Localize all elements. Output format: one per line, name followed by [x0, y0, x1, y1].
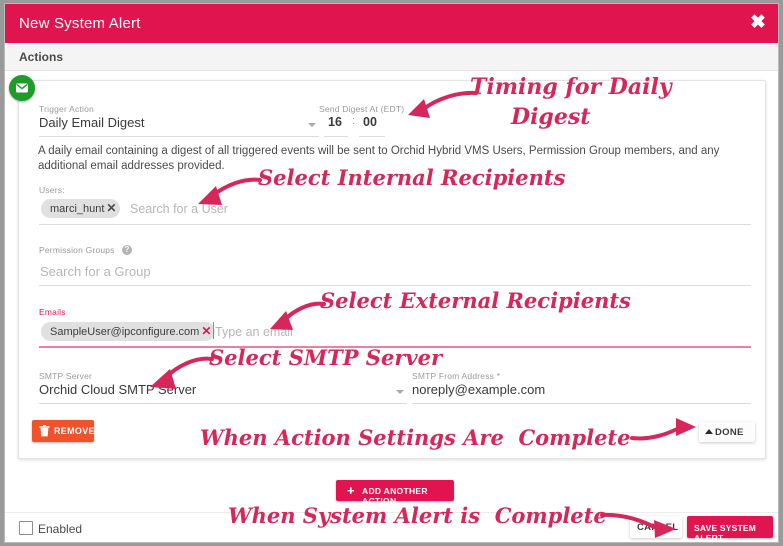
new-system-alert-dialog: New System Alert ✖ Actions Trigger Actio… [4, 3, 779, 543]
action-card: Trigger Action Daily Email Digest Send D… [18, 80, 766, 459]
smtp-server-underline [39, 403, 407, 404]
email-digest-icon [9, 75, 35, 101]
dialog-title-bar: New System Alert ✖ [5, 4, 779, 43]
send-digest-separator: : [352, 115, 355, 127]
permission-groups-label: Permission Groups [39, 245, 115, 255]
actions-section-label: Actions [19, 50, 63, 64]
add-another-action-label: ADD ANOTHER ACTION [362, 486, 454, 506]
done-button[interactable]: DONE [699, 422, 755, 442]
remove-button[interactable]: REMOVE [32, 420, 94, 442]
smtp-server-label: SMTP Server [39, 371, 92, 381]
cancel-button[interactable]: CANCEL [630, 516, 682, 538]
email-chip[interactable]: SampleUser@ipconfigure.com✕ [41, 322, 215, 341]
dialog-title: New System Alert [19, 15, 141, 32]
close-icon[interactable]: ✕ [201, 324, 211, 338]
help-icon[interactable]: ? [122, 245, 132, 255]
plus-icon: + [347, 485, 355, 496]
users-label: Users: [39, 185, 65, 195]
remove-button-label: REMOVE [54, 426, 95, 436]
chevron-up-icon [705, 429, 713, 434]
done-button-label: DONE [715, 427, 744, 438]
minute-underline [359, 136, 385, 137]
trigger-action-underline [39, 136, 319, 137]
emails-input-placeholder[interactable]: Type an email [215, 325, 293, 339]
permission-groups-underline [39, 285, 751, 286]
trigger-action-value[interactable]: Daily Email Digest [39, 115, 144, 130]
text-cursor [213, 322, 214, 339]
close-icon[interactable]: ✖ [747, 12, 769, 34]
smtp-from-address-value[interactable]: noreply@example.com [412, 382, 545, 397]
save-system-alert-button[interactable]: SAVE SYSTEM ALERT [687, 516, 773, 538]
send-digest-label: Send Digest At (EDT) [319, 104, 404, 114]
actions-section-header: Actions [5, 43, 779, 71]
trash-icon [39, 425, 50, 437]
emails-underline [39, 346, 751, 348]
user-chip-label: marci_hunt [50, 203, 104, 215]
users-underline [39, 224, 751, 225]
emails-label: Emails [39, 307, 66, 317]
cancel-button-label: CANCEL [637, 522, 678, 533]
user-chip[interactable]: marci_hunt✕ [41, 199, 120, 218]
enabled-label: Enabled [38, 522, 82, 536]
users-input-placeholder[interactable]: Search for a User [130, 202, 228, 216]
caret-down-icon[interactable] [396, 390, 404, 394]
caret-down-icon[interactable] [308, 123, 316, 127]
enabled-checkbox[interactable] [19, 521, 33, 535]
permission-groups-input-placeholder[interactable]: Search for a Group [40, 264, 151, 279]
smtp-from-address-underline [412, 403, 751, 404]
action-description: A daily email containing a digest of all… [38, 144, 751, 174]
smtp-server-value[interactable]: Orchid Cloud SMTP Server [39, 382, 196, 397]
smtp-from-address-label: SMTP From Address * [412, 371, 500, 381]
add-another-action-button[interactable]: + ADD ANOTHER ACTION [336, 480, 454, 501]
save-system-alert-label: SAVE SYSTEM ALERT [694, 523, 773, 543]
send-digest-hour[interactable]: 16 [328, 115, 342, 129]
trigger-action-label: Trigger Action [39, 104, 94, 114]
send-digest-minute[interactable]: 00 [363, 115, 377, 129]
email-chip-label: SampleUser@ipconfigure.com [50, 326, 199, 338]
close-icon[interactable]: ✕ [106, 201, 116, 215]
hour-underline [324, 136, 348, 137]
